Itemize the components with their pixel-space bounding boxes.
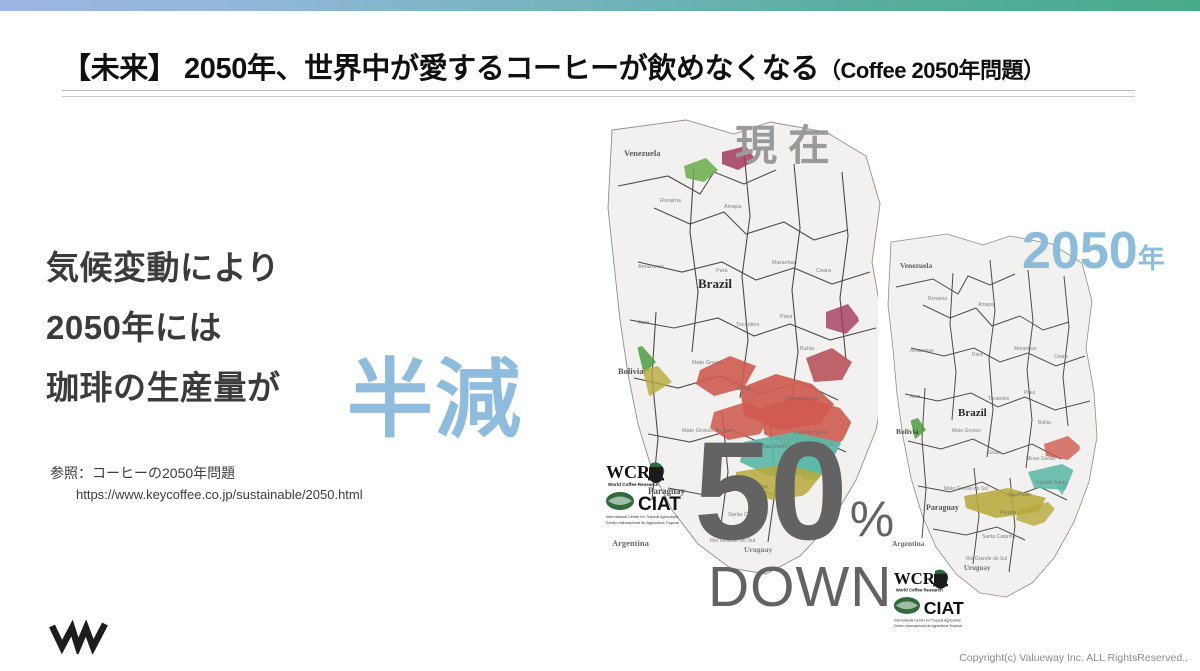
svg-text:International Center for Tropi: International Center for Tropical Agricu…	[606, 515, 678, 519]
svg-text:Espirito Santo: Espirito Santo	[1036, 480, 1067, 486]
page-title: 【未来】 2050年、世界中が愛するコーヒーが飲めなくなる（Coffee 205…	[62, 52, 1137, 88]
page-title-main: 【未来】 2050年、世界中が愛するコーヒーが飲めなくなる	[62, 53, 819, 85]
svg-text:Ceara: Ceara	[1054, 354, 1068, 360]
svg-text:Roraima: Roraima	[660, 198, 682, 204]
svg-text:Centro Internacional de Agricu: Centro Internacional de Agricultura Trop…	[606, 521, 679, 525]
citation-label: 参照：コーヒーの2050年問題	[50, 462, 470, 484]
svg-text:Goias: Goias	[988, 450, 1002, 456]
map-label-present: 現在	[735, 112, 841, 173]
svg-text:Mato Grosso: Mato Grosso	[692, 360, 723, 366]
stat-direction: DOWN	[708, 556, 894, 618]
svg-text:Bolivia: Bolivia	[896, 427, 919, 436]
highlight-word: 半減	[347, 352, 523, 448]
svg-text:World Coffee Research: World Coffee Research	[608, 482, 659, 487]
valueway-logo-icon	[48, 620, 120, 654]
svg-text:International Center for Tropi: International Center for Tropical Agricu…	[894, 618, 961, 622]
svg-text:Minas Gerais: Minas Gerais	[1026, 456, 1056, 462]
svg-text:Bahia: Bahia	[1038, 420, 1051, 426]
svg-text:Mato Grosso do Sul: Mato Grosso do Sul	[944, 486, 988, 492]
svg-text:Para: Para	[716, 268, 729, 274]
stat-percent-sign: %	[846, 494, 894, 550]
svg-text:WCR: WCR	[894, 569, 936, 588]
svg-text:Venezuela: Venezuela	[900, 261, 932, 270]
page-title-sub: （Coffee 2050年問題）	[819, 58, 1045, 83]
svg-text:CIAT: CIAT	[638, 494, 681, 515]
svg-text:Acre: Acre	[910, 394, 921, 400]
svg-text:Brazil: Brazil	[958, 407, 987, 419]
svg-text:Piaui: Piaui	[780, 314, 792, 320]
wcr-ciat-logo-future: WCR World Coffee Research CIAT Internati…	[892, 564, 1004, 634]
lead-line-2: 2050年には	[46, 298, 566, 358]
svg-text:Minas Gerais: Minas Gerais	[786, 396, 819, 402]
svg-text:Goias: Goias	[736, 386, 751, 392]
title-divider	[62, 90, 1135, 97]
copyright-text: Copyright(c) Valueway Inc. ALL RightsRes…	[959, 652, 1188, 664]
svg-text:Ceara: Ceara	[816, 268, 832, 274]
svg-text:Maranhao: Maranhao	[772, 260, 797, 266]
svg-text:Sao Paulo: Sao Paulo	[1008, 492, 1031, 498]
svg-text:Bahia: Bahia	[800, 346, 815, 352]
svg-text:Paraguay: Paraguay	[926, 503, 959, 512]
svg-text:Argentina: Argentina	[892, 539, 925, 548]
svg-text:Venezuela: Venezuela	[624, 148, 661, 158]
svg-text:Acre: Acre	[638, 320, 649, 326]
svg-text:Centro Internacional de Agricu: Centro Internacional de Agricultura Trop…	[894, 624, 962, 628]
svg-text:WCR: WCR	[606, 462, 651, 482]
svg-text:Rio Grande do Sul: Rio Grande do Sul	[966, 556, 1007, 562]
svg-text:Argentina: Argentina	[612, 538, 650, 548]
map-label-future-year: 2050	[1022, 222, 1138, 280]
stat-callout: 50% DOWN	[694, 432, 894, 618]
svg-text:Roraima: Roraima	[928, 296, 947, 302]
stat-number: 50	[694, 432, 846, 550]
svg-text:CIAT: CIAT	[924, 598, 964, 618]
svg-text:Amazonas: Amazonas	[638, 264, 664, 270]
svg-text:World Coffee Research: World Coffee Research	[896, 588, 943, 593]
svg-text:Amazonas: Amazonas	[910, 348, 934, 354]
slide-canvas: 【未来】 2050年、世界中が愛するコーヒーが飲めなくなる（Coffee 205…	[0, 0, 1200, 671]
svg-text:Maranhao: Maranhao	[1014, 346, 1037, 352]
svg-text:Santa Catarina: Santa Catarina	[982, 534, 1016, 540]
lead-line-1: 気候変動により	[46, 238, 566, 298]
map-label-future: 2050年	[1022, 221, 1165, 281]
top-gradient-bar	[0, 0, 1200, 11]
svg-text:Para: Para	[972, 352, 983, 358]
svg-text:Parana: Parana	[1000, 510, 1016, 516]
citation-block: 参照：コーヒーの2050年問題 https://www.keycoffee.co…	[50, 462, 470, 506]
map-label-future-unit: 年	[1138, 244, 1165, 274]
svg-text:Brazil: Brazil	[698, 276, 732, 291]
svg-text:Bolivia: Bolivia	[618, 366, 644, 376]
svg-text:Amapa: Amapa	[978, 302, 994, 308]
svg-text:Tocantins: Tocantins	[736, 322, 759, 328]
map-figure-future: Venezuela Brazil Bolivia Paraguay Argent…	[878, 228, 1100, 643]
svg-text:Piaui: Piaui	[1024, 390, 1035, 396]
svg-text:Amapa: Amapa	[724, 204, 742, 210]
svg-text:Mato Grosso: Mato Grosso	[952, 428, 981, 434]
citation-url[interactable]: https://www.keycoffee.co.jp/sustainable/…	[76, 484, 470, 506]
svg-text:Tocantins: Tocantins	[988, 396, 1010, 402]
